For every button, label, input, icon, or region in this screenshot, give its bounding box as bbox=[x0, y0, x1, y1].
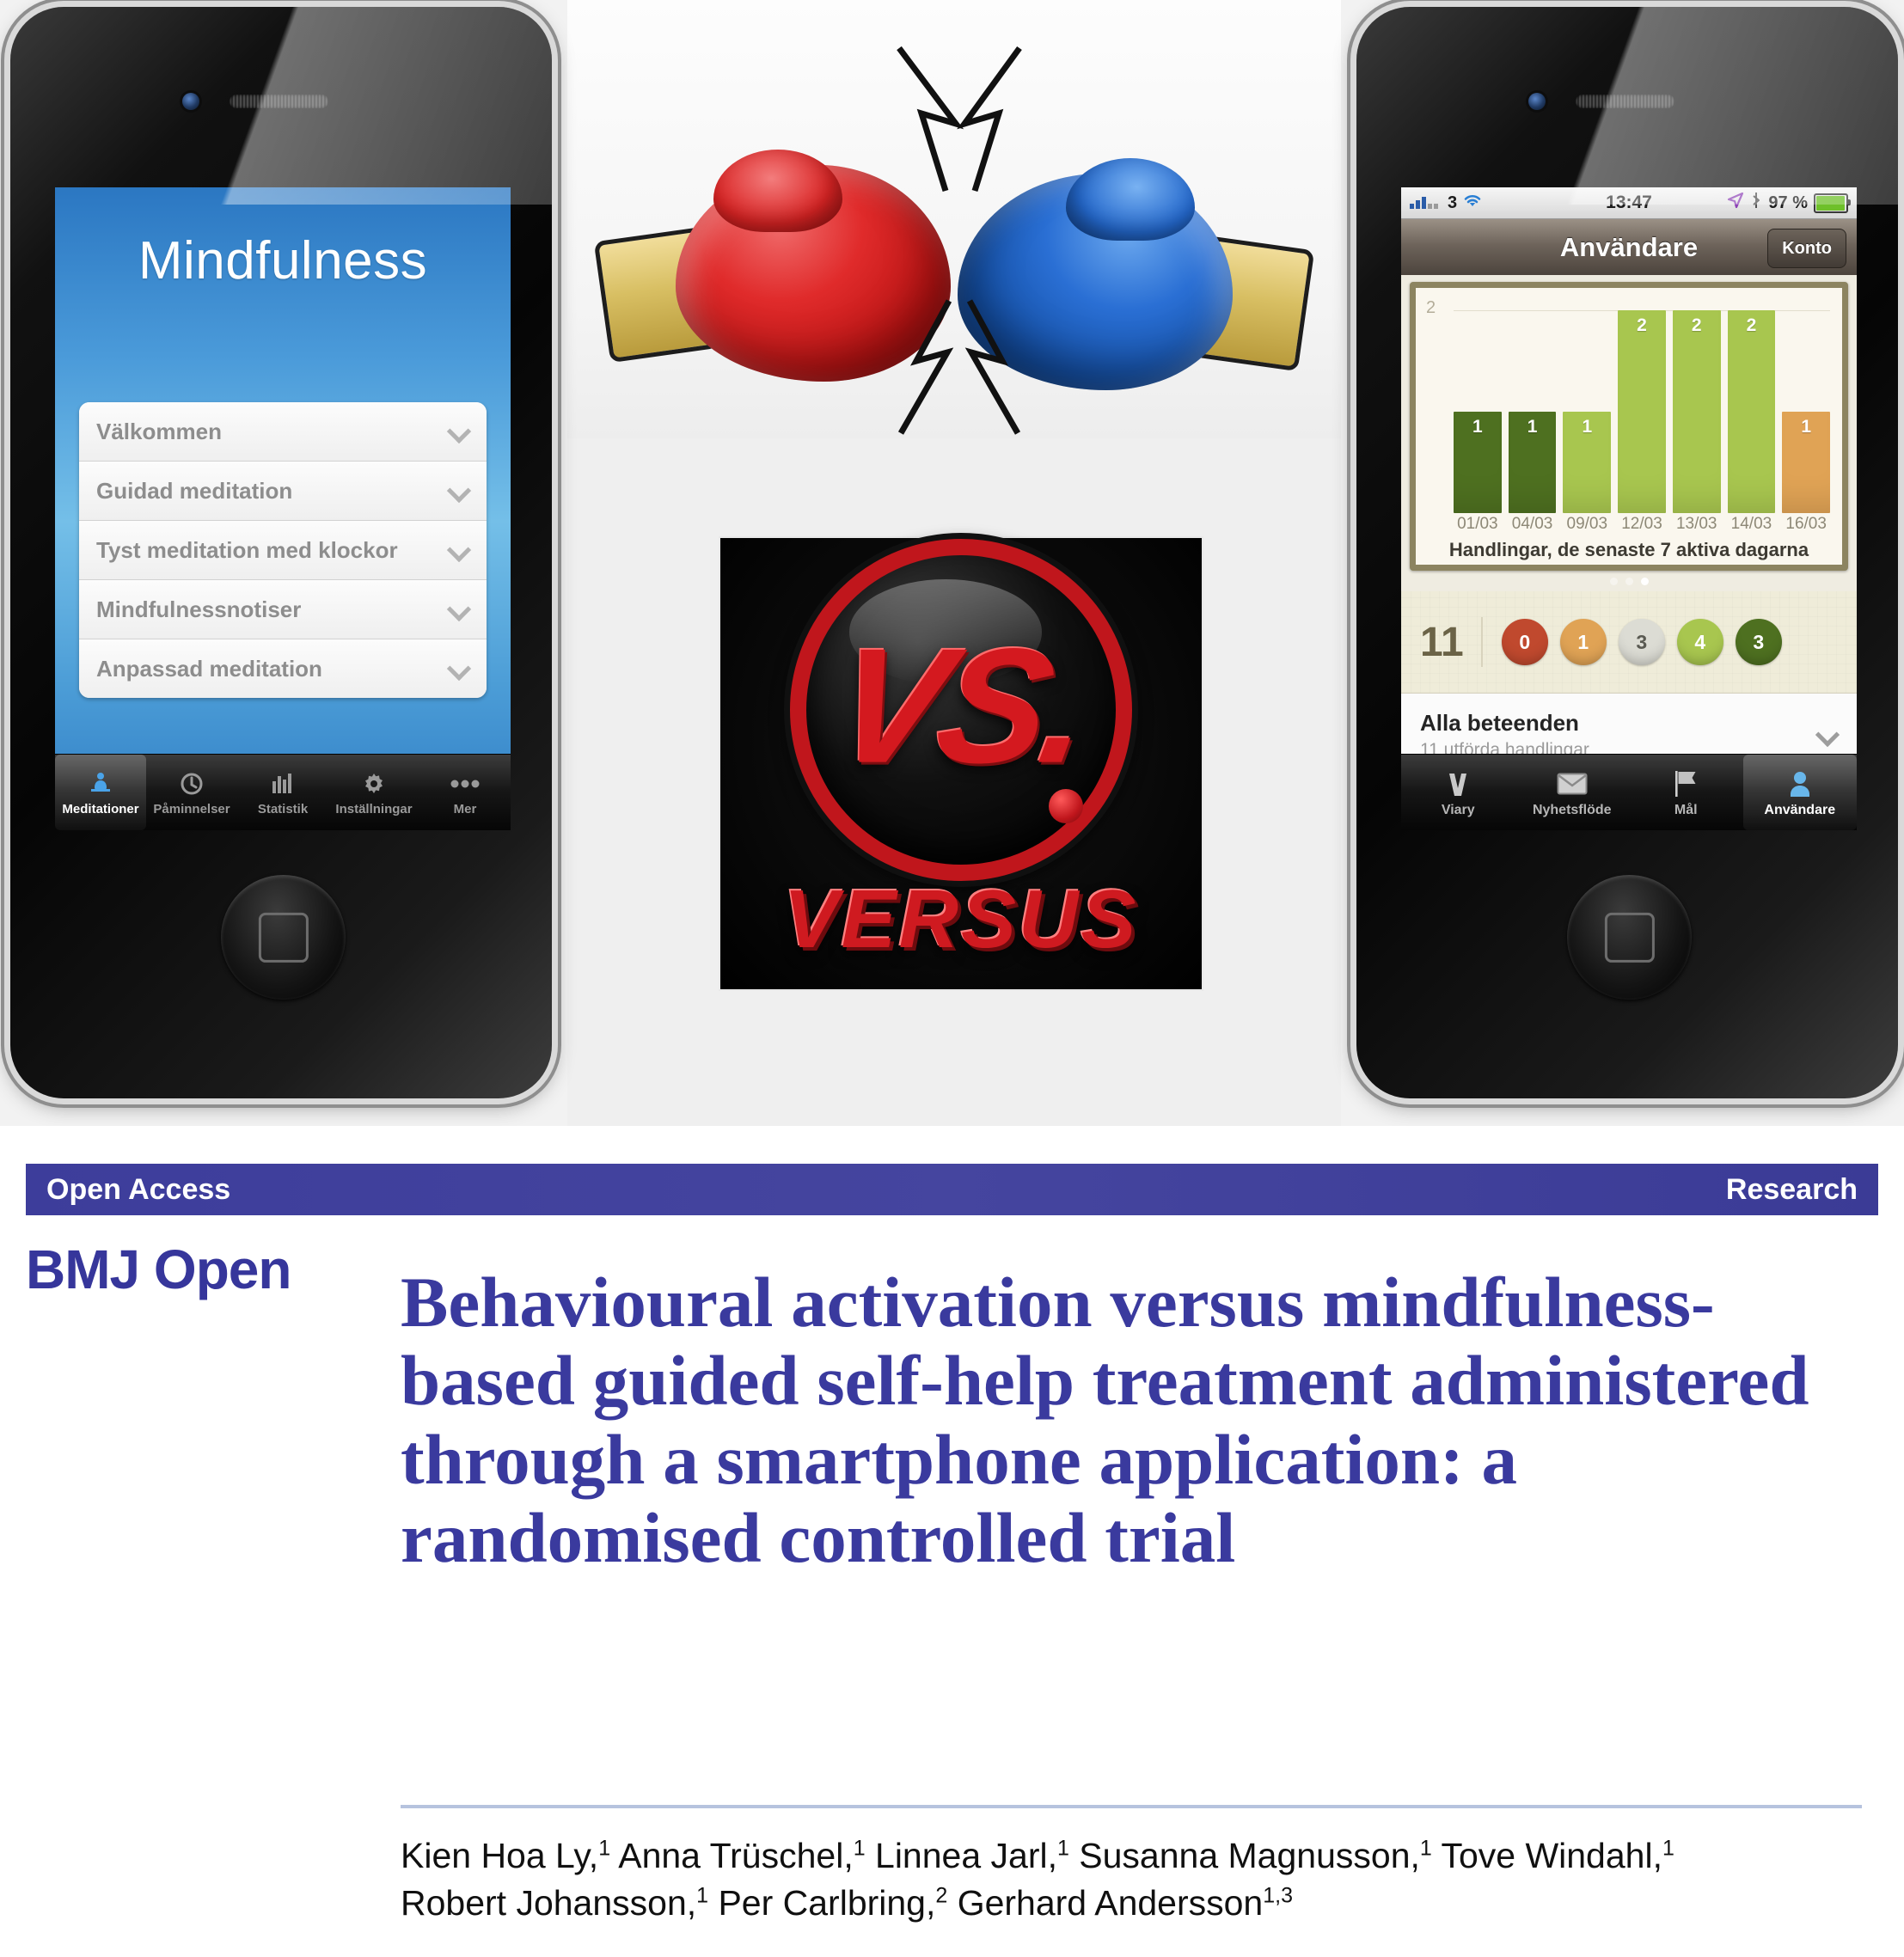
x-tick-label: 16/03 bbox=[1782, 515, 1830, 534]
affiliation-marker: 1 bbox=[854, 1836, 866, 1860]
person-icon bbox=[1787, 767, 1813, 801]
mindfulness-screen-background: Mindfulness Välkommen Guidad meditation … bbox=[55, 187, 511, 830]
bar-chart-icon bbox=[270, 768, 296, 799]
boxing-gloves-photo bbox=[567, 0, 1341, 438]
affiliation-marker: 1,3 bbox=[1263, 1884, 1293, 1908]
page-title: Behavioural activation versus mindfulnes… bbox=[401, 1263, 1862, 1577]
tab-label: Användare bbox=[1764, 803, 1835, 818]
ellipsis-icon bbox=[450, 768, 481, 799]
mindfulness-app-screen: Mindfulness Välkommen Guidad meditation … bbox=[55, 187, 511, 830]
tab-label: Nyhetsflöde bbox=[1533, 803, 1612, 818]
list-item[interactable]: Mindfulnessnotiser bbox=[79, 580, 487, 639]
tab-label: Inställningar bbox=[335, 802, 412, 816]
author-name: Anna Trüschel, bbox=[610, 1836, 854, 1875]
meditation-icon bbox=[88, 768, 113, 799]
author-name: Susanna Magnusson, bbox=[1069, 1836, 1420, 1875]
tab-mer[interactable]: Mer bbox=[419, 755, 511, 830]
list-item[interactable]: Anpassad meditation bbox=[79, 639, 487, 698]
summary-dot: 0 bbox=[1502, 619, 1548, 665]
envelope-icon bbox=[1557, 767, 1588, 801]
bar-column: 1 bbox=[1563, 310, 1611, 513]
page-dot-active bbox=[1641, 578, 1649, 585]
tab-label: Statistik bbox=[258, 802, 308, 816]
bar-value-label: 1 bbox=[1454, 417, 1502, 437]
chart-plot-area: 2 1 1 1 2 2 2 1 01/03 bbox=[1416, 288, 1842, 565]
summary-dot: 1 bbox=[1560, 619, 1607, 665]
summary-dot: 3 bbox=[1736, 619, 1782, 665]
bar-column: 1 bbox=[1454, 310, 1502, 513]
bar-column: 2 bbox=[1728, 310, 1776, 513]
versus-app-icon: VS. VERSUS bbox=[720, 538, 1202, 989]
tab-statistik[interactable]: Statistik bbox=[237, 755, 328, 830]
tab-label: Påminnelser bbox=[153, 802, 230, 816]
mindfulness-tab-bar: Meditationer Påminnelser Statistik bbox=[55, 754, 511, 830]
gear-icon bbox=[361, 768, 387, 799]
list-item[interactable]: Tyst meditation med klockor bbox=[79, 521, 487, 580]
viary-tab-bar: Viary Nyhetsflöde Mål bbox=[1401, 754, 1857, 830]
article-header-section: Open Access Research BMJ Open Behavioura… bbox=[0, 1126, 1904, 1957]
tab-label: Mål bbox=[1674, 803, 1698, 818]
x-tick-label: 12/03 bbox=[1618, 515, 1666, 534]
chart-title: Handlingar, de senaste 7 aktiva dagarna bbox=[1416, 539, 1842, 561]
tab-label: Viary bbox=[1442, 803, 1475, 818]
earpiece-speaker-icon bbox=[230, 95, 328, 108]
total-count: 11 bbox=[1420, 619, 1464, 666]
home-square-icon bbox=[258, 912, 308, 962]
page-dot bbox=[1625, 578, 1633, 585]
konto-button[interactable]: Konto bbox=[1767, 229, 1846, 268]
chevron-right-icon bbox=[447, 597, 471, 621]
battery-icon bbox=[1814, 193, 1848, 213]
chevron-right-icon bbox=[447, 419, 471, 443]
list-item-label: Guidad meditation bbox=[96, 478, 292, 505]
chart-x-axis-labels: 01/03 04/03 09/03 12/03 13/03 14/03 16/0… bbox=[1454, 515, 1830, 534]
article-title-block: Behavioural activation versus mindfulnes… bbox=[401, 1263, 1862, 1577]
clock-icon bbox=[179, 768, 205, 799]
summary-dot: 3 bbox=[1619, 619, 1665, 665]
chart-bar: 2 bbox=[1618, 310, 1666, 513]
affiliation-marker: 1 bbox=[598, 1836, 610, 1860]
bar-value-label: 1 bbox=[1563, 417, 1611, 437]
affiliation-marker: 1 bbox=[696, 1884, 708, 1908]
right-smartphone-mockup: 3 13:47 97 % bbox=[1356, 7, 1898, 1098]
x-tick-label: 14/03 bbox=[1728, 515, 1776, 534]
tab-installningar[interactable]: Inställningar bbox=[328, 755, 419, 830]
x-tick-label: 04/03 bbox=[1509, 515, 1557, 534]
tab-paminnelser[interactable]: Påminnelser bbox=[146, 755, 237, 830]
home-button[interactable] bbox=[221, 875, 346, 1000]
meditation-list: Välkommen Guidad meditation Tyst meditat… bbox=[79, 402, 487, 698]
handlingar-bar-chart[interactable]: 2 1 1 1 2 2 2 1 01/03 bbox=[1410, 282, 1848, 571]
status-clock: 13:47 bbox=[1401, 193, 1857, 213]
open-access-banner: Open Access Research bbox=[26, 1164, 1878, 1215]
list-item-label: Anpassad meditation bbox=[96, 656, 322, 682]
title-author-divider bbox=[401, 1805, 1862, 1808]
chevron-right-icon bbox=[447, 479, 471, 503]
tab-meditationer[interactable]: Meditationer bbox=[55, 755, 146, 830]
author-name: Kien Hoa Ly, bbox=[401, 1836, 598, 1875]
viary-app-screen: 3 13:47 97 % bbox=[1401, 187, 1857, 830]
left-smartphone-mockup: Mindfulness Välkommen Guidad meditation … bbox=[10, 7, 552, 1098]
tab-label: Meditationer bbox=[62, 802, 138, 816]
affiliation-marker: 1 bbox=[1662, 1836, 1674, 1860]
bar-column: 1 bbox=[1782, 310, 1830, 513]
chart-bar: 2 bbox=[1728, 310, 1776, 513]
viary-content: 2 1 1 1 2 2 2 1 01/03 bbox=[1401, 275, 1857, 755]
author-name: Tove Windahl, bbox=[1432, 1836, 1662, 1875]
bar-column: 2 bbox=[1673, 310, 1721, 513]
tab-nyhetsflode[interactable]: Nyhetsflöde bbox=[1515, 755, 1630, 830]
chevron-right-icon bbox=[447, 657, 471, 681]
v-logo-icon bbox=[1444, 767, 1472, 801]
x-tick-label: 01/03 bbox=[1454, 515, 1502, 534]
page-dot bbox=[1610, 578, 1618, 585]
bar-column: 1 bbox=[1509, 310, 1557, 513]
versus-wordmark: VERSUS bbox=[720, 872, 1202, 967]
mindfulness-app-title: Mindfulness bbox=[55, 230, 511, 291]
chevron-right-icon bbox=[447, 538, 471, 562]
summary-dot: 4 bbox=[1677, 619, 1723, 665]
author-list: Kien Hoa Ly,1 Anna Trüschel,1 Linnea Jar… bbox=[401, 1832, 1896, 1928]
tab-mal[interactable]: Mål bbox=[1629, 755, 1743, 830]
chart-bar: 1 bbox=[1454, 412, 1502, 513]
vs-red-dot-icon bbox=[1049, 789, 1083, 823]
chart-bar: 1 bbox=[1563, 412, 1611, 513]
viary-nav-bar: Användare Konto bbox=[1401, 219, 1857, 277]
hero-image-strip: VS. VERSUS Mindfulness Välkommen Guidad … bbox=[0, 0, 1904, 1126]
x-tick-label: 13/03 bbox=[1673, 515, 1721, 534]
list-item-label: Tyst meditation med klockor bbox=[96, 537, 398, 564]
page-indicator[interactable] bbox=[1401, 571, 1857, 591]
research-label: Research bbox=[1726, 1173, 1858, 1207]
red-glove-thumb bbox=[713, 150, 842, 232]
bar-value-label: 2 bbox=[1618, 315, 1666, 336]
author-name: Linnea Jarl, bbox=[866, 1836, 1057, 1875]
nav-title: Användare bbox=[1560, 232, 1698, 263]
journal-logo: BMJ Open bbox=[26, 1238, 291, 1301]
author-name: Gerhard Andersson bbox=[947, 1883, 1263, 1923]
behaviour-summary: 11 0 1 3 4 3 bbox=[1401, 591, 1857, 694]
vs-mark-label: VS. bbox=[821, 612, 1102, 799]
chart-bars: 1 1 1 2 2 2 1 bbox=[1454, 310, 1830, 513]
x-tick-label: 09/03 bbox=[1563, 515, 1611, 534]
front-camera-icon bbox=[1528, 93, 1546, 110]
bar-value-label: 1 bbox=[1509, 417, 1557, 437]
flag-icon bbox=[1673, 767, 1699, 801]
summary-divider bbox=[1481, 617, 1483, 667]
tab-label: Mer bbox=[454, 802, 477, 816]
bar-value-label: 2 bbox=[1673, 315, 1721, 336]
front-camera-icon bbox=[182, 93, 199, 110]
home-button[interactable] bbox=[1567, 875, 1692, 1000]
tab-anvandare[interactable]: Användare bbox=[1743, 755, 1858, 830]
chart-bar: 2 bbox=[1673, 310, 1721, 513]
tab-viary[interactable]: Viary bbox=[1401, 755, 1515, 830]
chart-bar: 1 bbox=[1782, 412, 1830, 513]
blue-glove-thumb bbox=[1066, 158, 1195, 241]
affiliation-marker: 1 bbox=[1057, 1836, 1069, 1860]
home-square-icon bbox=[1604, 912, 1654, 962]
author-name: Per Carlbring, bbox=[708, 1883, 935, 1923]
ios-status-bar: 3 13:47 97 % bbox=[1401, 187, 1857, 219]
y-axis-max-label: 2 bbox=[1426, 298, 1436, 318]
bar-value-label: 1 bbox=[1782, 417, 1830, 437]
row-title: Alla beteenden bbox=[1420, 710, 1838, 737]
list-item-label: Mindfulnessnotiser bbox=[96, 596, 301, 623]
lightning-bolt-icon bbox=[882, 299, 1037, 437]
earpiece-speaker-icon bbox=[1576, 95, 1674, 108]
list-item[interactable]: Välkommen bbox=[79, 402, 487, 462]
chart-bar: 1 bbox=[1509, 412, 1557, 513]
lightning-bolt-icon bbox=[882, 45, 1037, 199]
author-name: Robert Johansson, bbox=[401, 1883, 696, 1923]
list-item[interactable]: Guidad meditation bbox=[79, 462, 487, 521]
affiliation-marker: 2 bbox=[935, 1884, 947, 1908]
affiliation-marker: 1 bbox=[1420, 1836, 1432, 1860]
list-item-label: Välkommen bbox=[96, 419, 222, 445]
summary-dot-group: 0 1 3 4 3 bbox=[1502, 619, 1782, 665]
vs-emblem-circle: VS. bbox=[790, 539, 1132, 881]
bar-column: 2 bbox=[1618, 310, 1666, 513]
open-access-label: Open Access bbox=[46, 1173, 230, 1207]
bar-value-label: 2 bbox=[1728, 315, 1776, 336]
